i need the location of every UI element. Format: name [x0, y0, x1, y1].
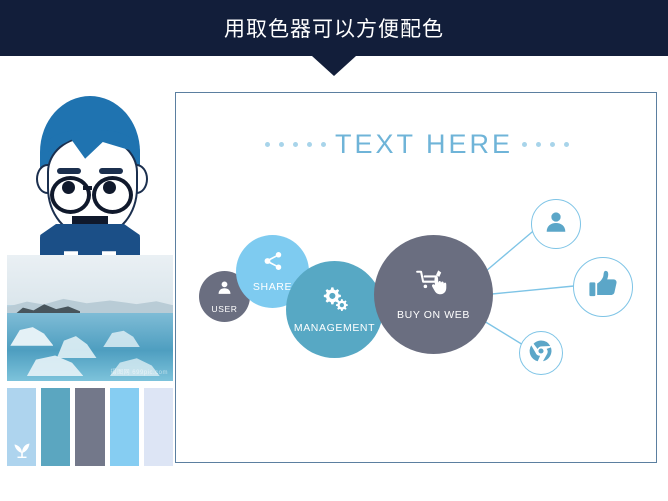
chrome-icon: [529, 339, 553, 368]
node-thumbs-up[interactable]: [573, 257, 633, 317]
thumbs-up-icon: [586, 268, 620, 307]
swatch-5: [144, 388, 173, 466]
leaf-logo: [11, 438, 33, 460]
avatar-pupil-right: [103, 181, 116, 194]
glacier-photo: 摄图网 699pic.com: [7, 255, 173, 381]
color-palette: [7, 388, 173, 466]
bubble-share-label: SHARE: [253, 281, 292, 293]
bubble-buy-on-web[interactable]: BUY ON WEB: [374, 235, 493, 354]
header-pointer-triangle: [312, 56, 356, 76]
photo-sky: [7, 255, 173, 305]
cart-hand-icon: [415, 268, 453, 303]
node-person[interactable]: [531, 199, 581, 249]
gears-icon: [320, 286, 350, 317]
avatar-eyebrow-left: [57, 168, 81, 174]
avatar-eyebrow-right: [99, 168, 123, 174]
header-band: 用取色器可以方便配色: [0, 0, 668, 56]
share-icon: [262, 250, 284, 277]
avatar-pupil-left: [62, 181, 75, 194]
bubble-buy-label: BUY ON WEB: [397, 309, 470, 321]
bubble-management[interactable]: MANAGEMENT: [286, 261, 383, 358]
bubble-management-label: MANAGEMENT: [294, 322, 375, 334]
avatar-glasses-bridge: [83, 186, 92, 190]
left-column: 摄图网 699pic.com: [0, 56, 175, 501]
node-chrome[interactable]: [519, 331, 563, 375]
swatch-3: [75, 388, 104, 466]
bubble-user-label: USER: [211, 304, 237, 314]
slide-panel: TEXT HERE USER: [175, 92, 657, 463]
swatch-1: [7, 388, 36, 466]
swatch-2: [41, 388, 70, 466]
photo-watermark: 摄图网 699pic.com: [111, 370, 168, 378]
swatch-4: [110, 388, 139, 466]
person-icon: [543, 209, 569, 240]
person-icon: [216, 279, 233, 301]
bubble-diagram: USER SHARE: [176, 93, 658, 464]
page-title: 用取色器可以方便配色: [0, 13, 668, 43]
